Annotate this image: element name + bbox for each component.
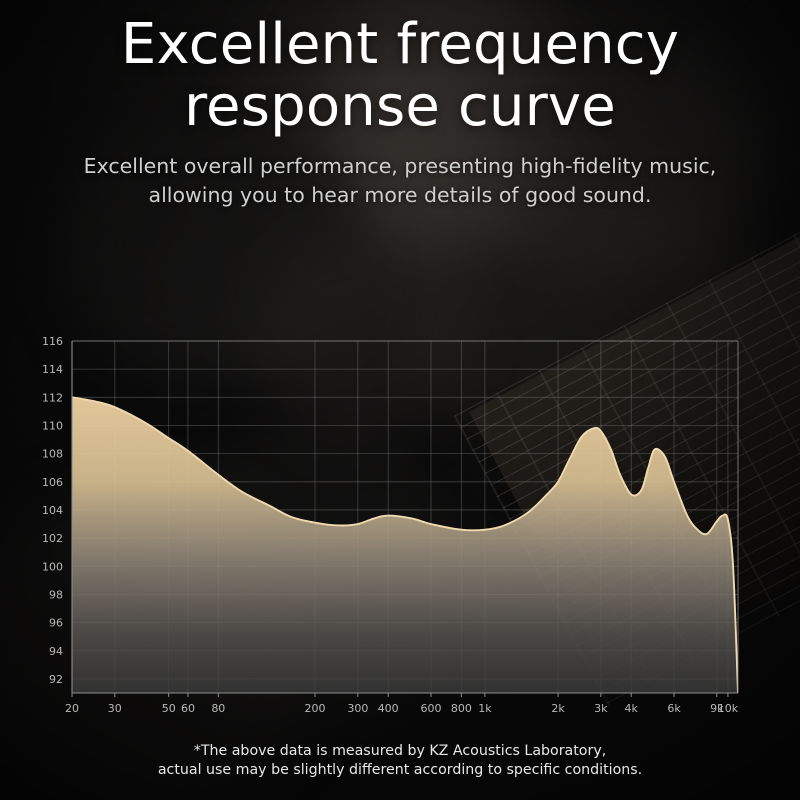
y-tick-label: 104 xyxy=(42,504,63,517)
y-tick-label: 114 xyxy=(42,363,63,376)
subtitle-line-1: Excellent overall performance, presentin… xyxy=(0,152,800,181)
chart-x-tick-labels: 20305060802003004006008001k2k3k4k6k9k10k xyxy=(65,702,739,715)
headline-block: Excellent frequency response curve Excel… xyxy=(0,14,800,210)
x-tick-label: 80 xyxy=(211,702,225,715)
y-tick-label: 96 xyxy=(49,617,63,630)
y-tick-label: 116 xyxy=(42,335,63,348)
x-tick-label: 800 xyxy=(451,702,472,715)
y-tick-label: 98 xyxy=(49,588,63,601)
chart-svg: 11611411211010810610410210098969492 2030… xyxy=(0,318,800,718)
y-tick-label: 100 xyxy=(42,560,63,573)
y-tick-label: 94 xyxy=(49,645,63,658)
frequency-response-chart: 11611411211010810610410210098969492 2030… xyxy=(0,318,800,718)
x-tick-label: 400 xyxy=(378,702,399,715)
x-tick-label: 10k xyxy=(718,702,739,715)
chart-y-tick-labels: 11611411211010810610410210098969492 xyxy=(42,335,63,686)
y-tick-label: 106 xyxy=(42,476,63,489)
x-tick-label: 300 xyxy=(347,702,368,715)
x-tick-label: 200 xyxy=(305,702,326,715)
y-tick-label: 112 xyxy=(42,391,63,404)
x-tick-label: 50 xyxy=(162,702,176,715)
x-tick-label: 30 xyxy=(108,702,122,715)
chart-area-fill xyxy=(72,397,738,693)
x-tick-label: 6k xyxy=(667,702,681,715)
y-tick-label: 92 xyxy=(49,673,63,686)
x-tick-label: 20 xyxy=(65,702,79,715)
subtitle-block: Excellent overall performance, presentin… xyxy=(0,152,800,210)
footnote-line-1: *The above data is measured by KZ Acoust… xyxy=(0,742,800,761)
headline-line-1: Excellent frequency xyxy=(0,14,800,76)
x-tick-label: 3k xyxy=(594,702,608,715)
y-tick-label: 102 xyxy=(42,532,63,545)
headline-line-2: response curve xyxy=(0,76,800,138)
subtitle-line-2: allowing you to hear more details of goo… xyxy=(0,181,800,210)
footnote-line-2: actual use may be slightly different acc… xyxy=(0,761,800,780)
x-tick-label: 1k xyxy=(478,702,492,715)
footnote-block: *The above data is measured by KZ Acoust… xyxy=(0,742,800,780)
y-tick-label: 110 xyxy=(42,419,63,432)
promo-page: Excellent frequency response curve Excel… xyxy=(0,0,800,800)
x-tick-label: 60 xyxy=(181,702,195,715)
x-tick-label: 600 xyxy=(420,702,441,715)
x-tick-label: 4k xyxy=(625,702,639,715)
x-tick-label: 2k xyxy=(551,702,565,715)
y-tick-label: 108 xyxy=(42,448,63,461)
